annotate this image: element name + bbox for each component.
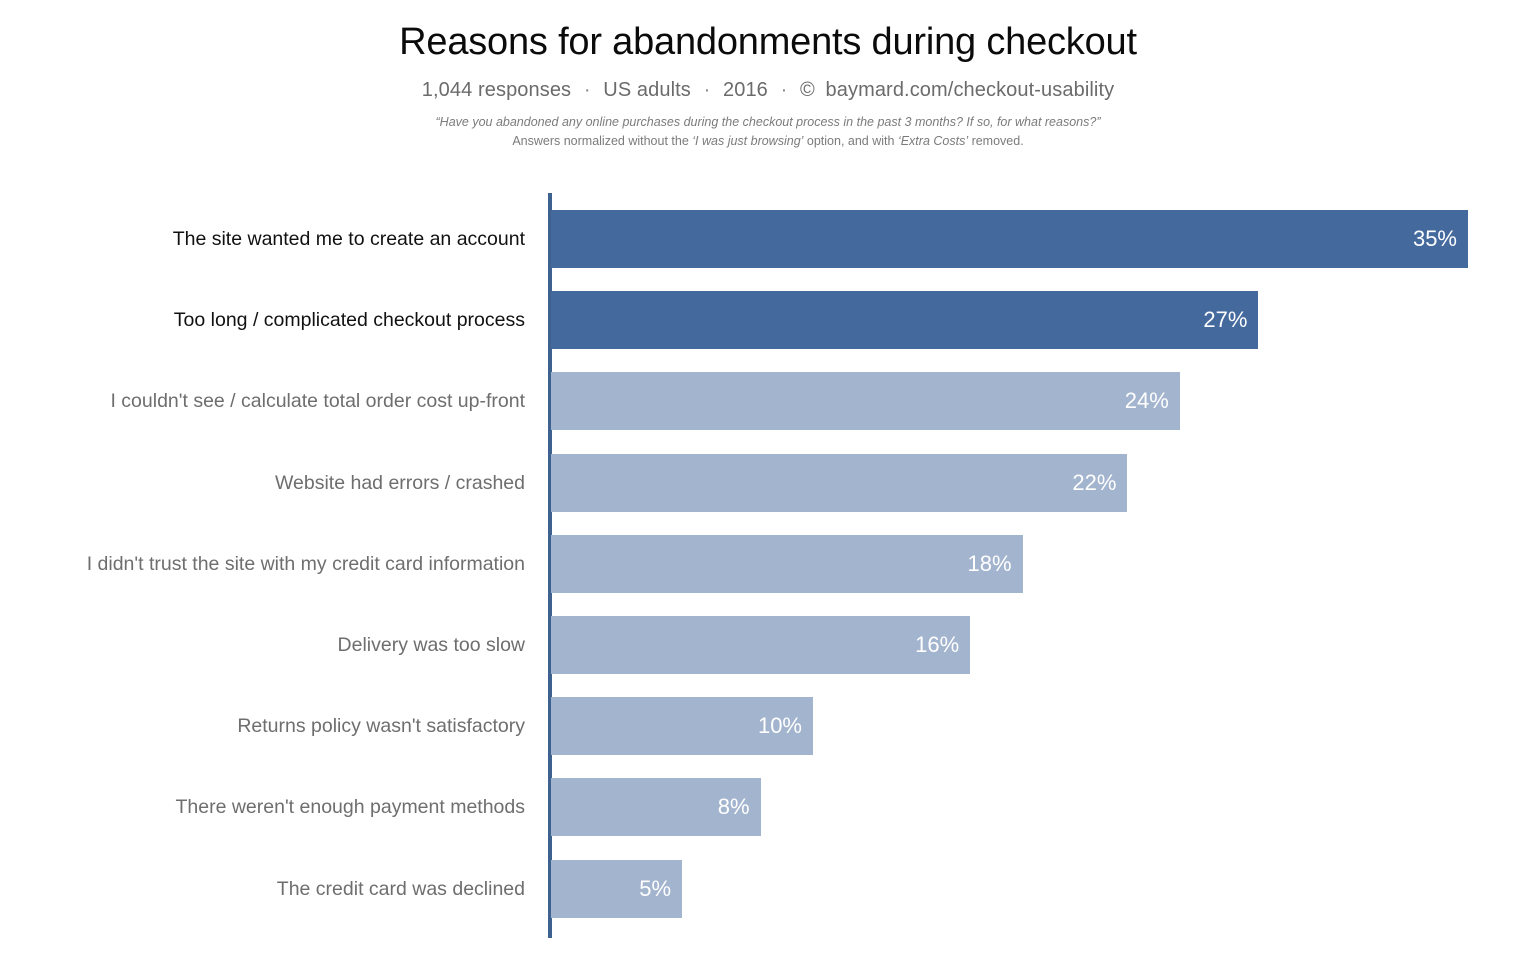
footnote-method-part-1: Answers normalized without the [512, 134, 692, 148]
page-title: Reasons for abandonments during checkout [0, 0, 1536, 64]
footnote-method-part-3: removed. [968, 134, 1024, 148]
subtitle-responses: 1,044 responses [422, 79, 571, 101]
bar-series: The site wanted me to create an account3… [0, 193, 1536, 941]
bar-row: The site wanted me to create an account3… [0, 210, 1536, 268]
bar-value-label: 5% [639, 860, 671, 918]
bar: 5% [551, 860, 682, 918]
bar-value-label: 18% [968, 535, 1012, 593]
bar-value-label: 35% [1413, 210, 1457, 268]
bar-category-label: I couldn't see / calculate total order c… [110, 372, 525, 430]
bar-chart-plot: The site wanted me to create an account3… [0, 193, 1536, 941]
bar-category-label: The credit card was declined [277, 860, 525, 918]
bar: 18% [551, 535, 1023, 593]
chart-header: Reasons for abandonments during checkout… [0, 0, 1536, 152]
bar-row: Returns policy wasn't satisfactory10% [0, 697, 1536, 755]
bar-category-label: I didn't trust the site with my credit c… [87, 535, 525, 593]
subtitle-separator-2: · [697, 79, 718, 101]
footnote-method-removed: ‘Extra Costs’ [898, 134, 968, 148]
bar-row: I didn't trust the site with my credit c… [0, 535, 1536, 593]
footnote-question: “Have you abandoned any online purchases… [0, 113, 1536, 132]
bar-row: Delivery was too slow16% [0, 616, 1536, 674]
bar: 16% [551, 616, 970, 674]
bar: 24% [551, 372, 1180, 430]
subtitle-audience: US adults [603, 79, 691, 101]
bar-row: Website had errors / crashed22% [0, 454, 1536, 512]
bar-value-label: 24% [1125, 372, 1169, 430]
chart-subtitle: 1,044 responses · US adults · 2016 · © b… [0, 64, 1536, 102]
footnote-method-option: ‘I was just browsing’ [692, 134, 803, 148]
bar-category-label: Website had errors / crashed [275, 454, 525, 512]
bar: 35% [551, 210, 1468, 268]
copyright-icon: © [800, 79, 820, 101]
subtitle-year: 2016 [723, 79, 768, 101]
bar: 10% [551, 697, 813, 755]
bar-row: There weren't enough payment methods8% [0, 778, 1536, 836]
bar: 27% [551, 291, 1258, 349]
bar-category-label: The site wanted me to create an account [173, 210, 525, 268]
footnote-methodology: Answers normalized without the ‘I was ju… [0, 132, 1536, 151]
bar-value-label: 10% [758, 697, 802, 755]
bar-category-label: Too long / complicated checkout process [174, 291, 525, 349]
bar-category-label: There weren't enough payment methods [175, 778, 525, 836]
bar: 22% [551, 454, 1127, 512]
subtitle-separator-3: · [774, 79, 795, 101]
bar-value-label: 8% [718, 778, 750, 836]
bar-row: The credit card was declined5% [0, 860, 1536, 918]
bar-value-label: 27% [1203, 291, 1247, 349]
chart-footnote: “Have you abandoned any online purchases… [0, 102, 1536, 152]
bar-value-label: 16% [915, 616, 959, 674]
bar-row: Too long / complicated checkout process2… [0, 291, 1536, 349]
bar-value-label: 22% [1072, 454, 1116, 512]
bar: 8% [551, 778, 761, 836]
bar-category-label: Returns policy wasn't satisfactory [237, 697, 525, 755]
subtitle-source: baymard.com/checkout-usability [826, 79, 1115, 101]
subtitle-separator-1: · [577, 79, 598, 101]
bar-row: I couldn't see / calculate total order c… [0, 372, 1536, 430]
footnote-method-part-2: option, and with [803, 134, 898, 148]
bar-category-label: Delivery was too slow [338, 616, 525, 674]
